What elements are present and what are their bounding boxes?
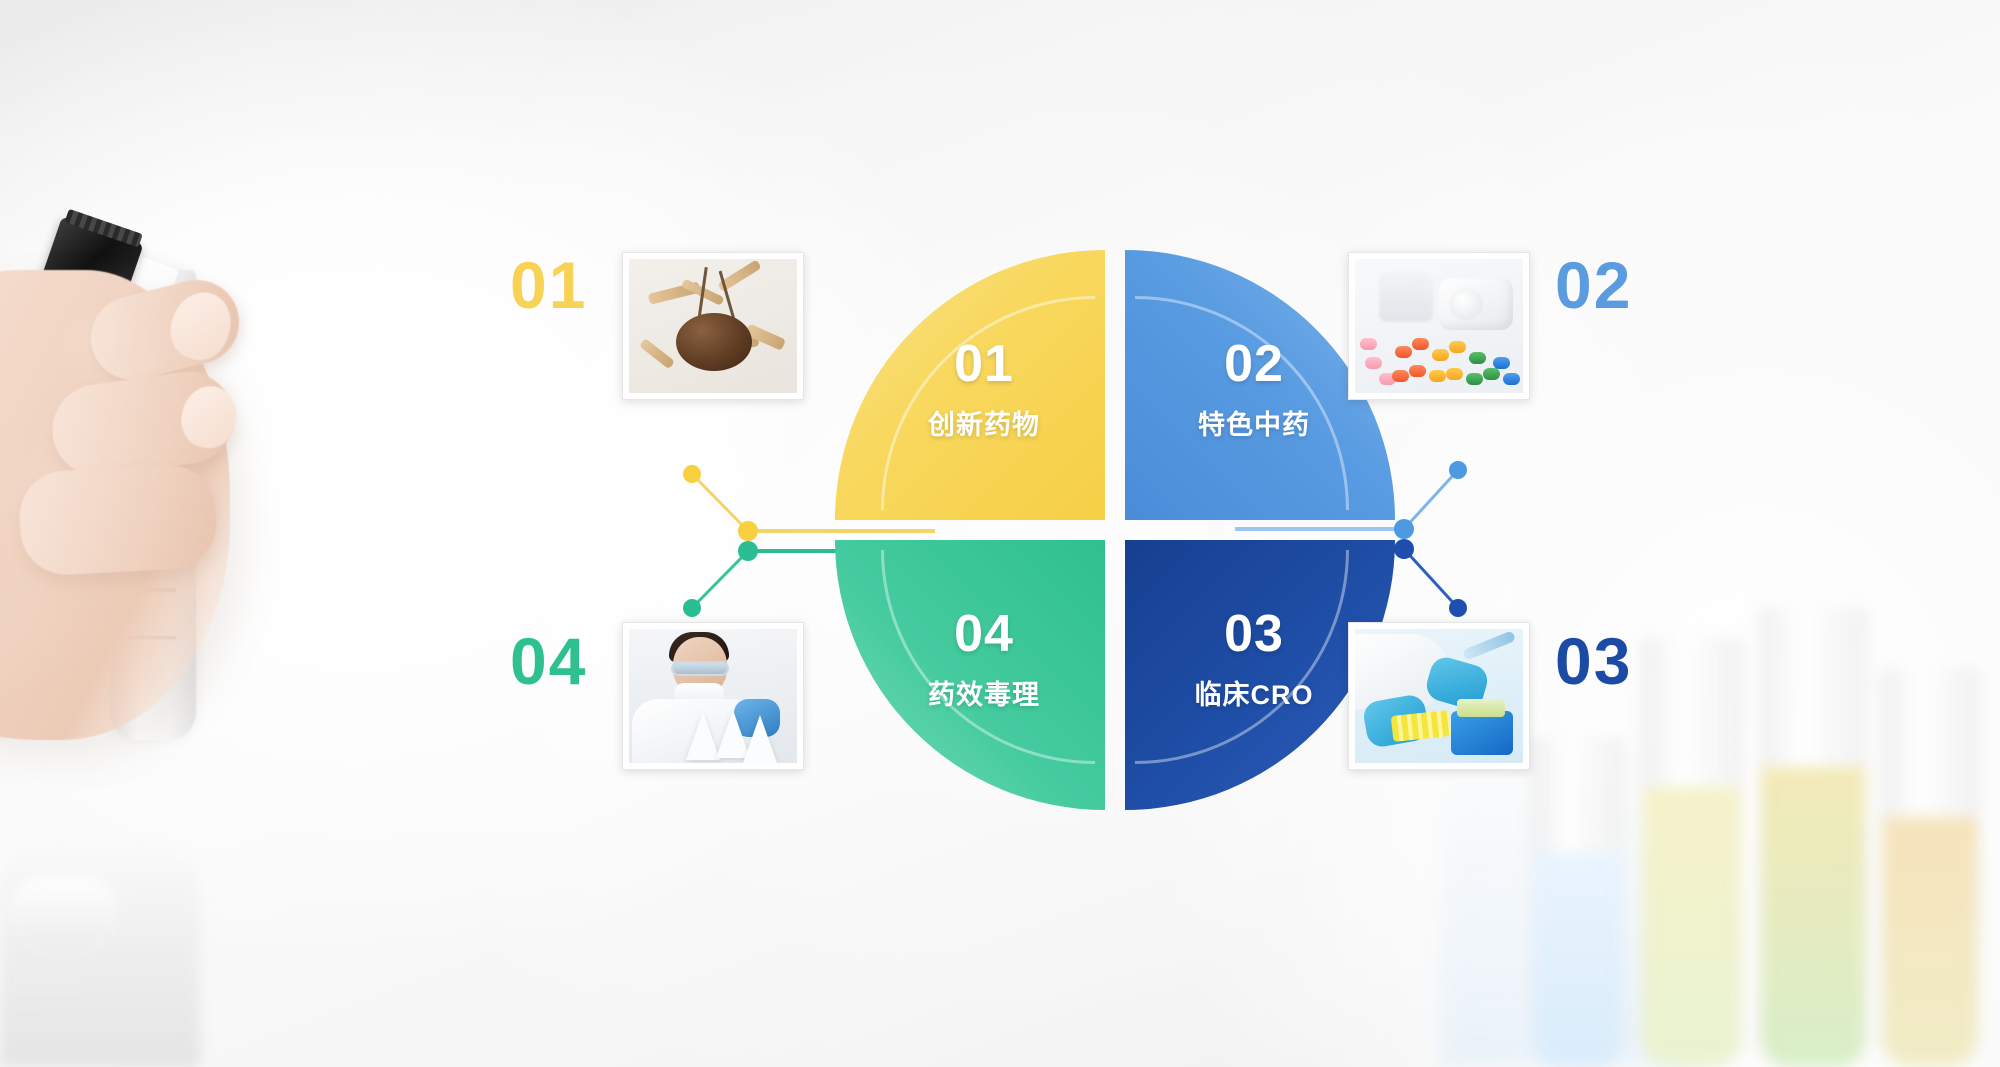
clinical-lab-image — [1355, 629, 1523, 763]
outer-number-04: 04 — [510, 628, 587, 694]
scientist-image — [629, 629, 797, 763]
quadrant-04[interactable]: 04 药效毒理 — [835, 540, 1105, 810]
quadrant-02-inner-border — [1135, 296, 1349, 510]
four-quadrant-diagram: 01 创新药物 02 特色中药 03 临床CRO 04 — [0, 0, 2000, 1067]
outer-number-01: 01 — [510, 252, 587, 318]
quadrant-wheel: 01 创新药物 02 特色中药 03 临床CRO 04 — [835, 250, 1395, 810]
quadrant-03-inner-border — [1135, 550, 1349, 764]
quadrant-01[interactable]: 01 创新药物 — [835, 250, 1105, 520]
thumbnail-04[interactable] — [622, 622, 804, 770]
quadrant-04-inner-border — [881, 550, 1095, 764]
herbal-medicine-image — [629, 259, 797, 393]
thumbnail-02[interactable] — [1348, 252, 1530, 400]
pills-image — [1355, 259, 1523, 393]
outer-number-03: 03 — [1555, 628, 1632, 694]
thumbnail-01[interactable] — [622, 252, 804, 400]
outer-number-02: 02 — [1555, 252, 1632, 318]
thumbnail-03[interactable] — [1348, 622, 1530, 770]
